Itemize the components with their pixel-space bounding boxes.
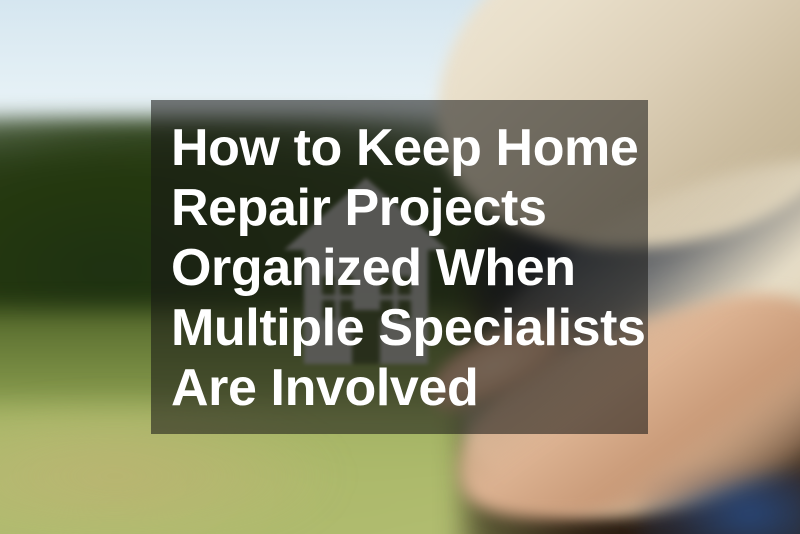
headline-line-2: Repair Projects: [171, 178, 648, 238]
headline-line-1: How to Keep Home: [171, 118, 648, 178]
headline-line-5: Are Involved: [171, 358, 648, 418]
page-title: How to Keep Home Repair Projects Organiz…: [171, 118, 648, 418]
headline-line-3: Organized When: [171, 238, 648, 298]
hero-screenshot: How to Keep Home Repair Projects Organiz…: [0, 0, 800, 534]
headline-line-4: Multiple Specialists: [171, 298, 648, 358]
title-overlay: How to Keep Home Repair Projects Organiz…: [151, 100, 648, 434]
